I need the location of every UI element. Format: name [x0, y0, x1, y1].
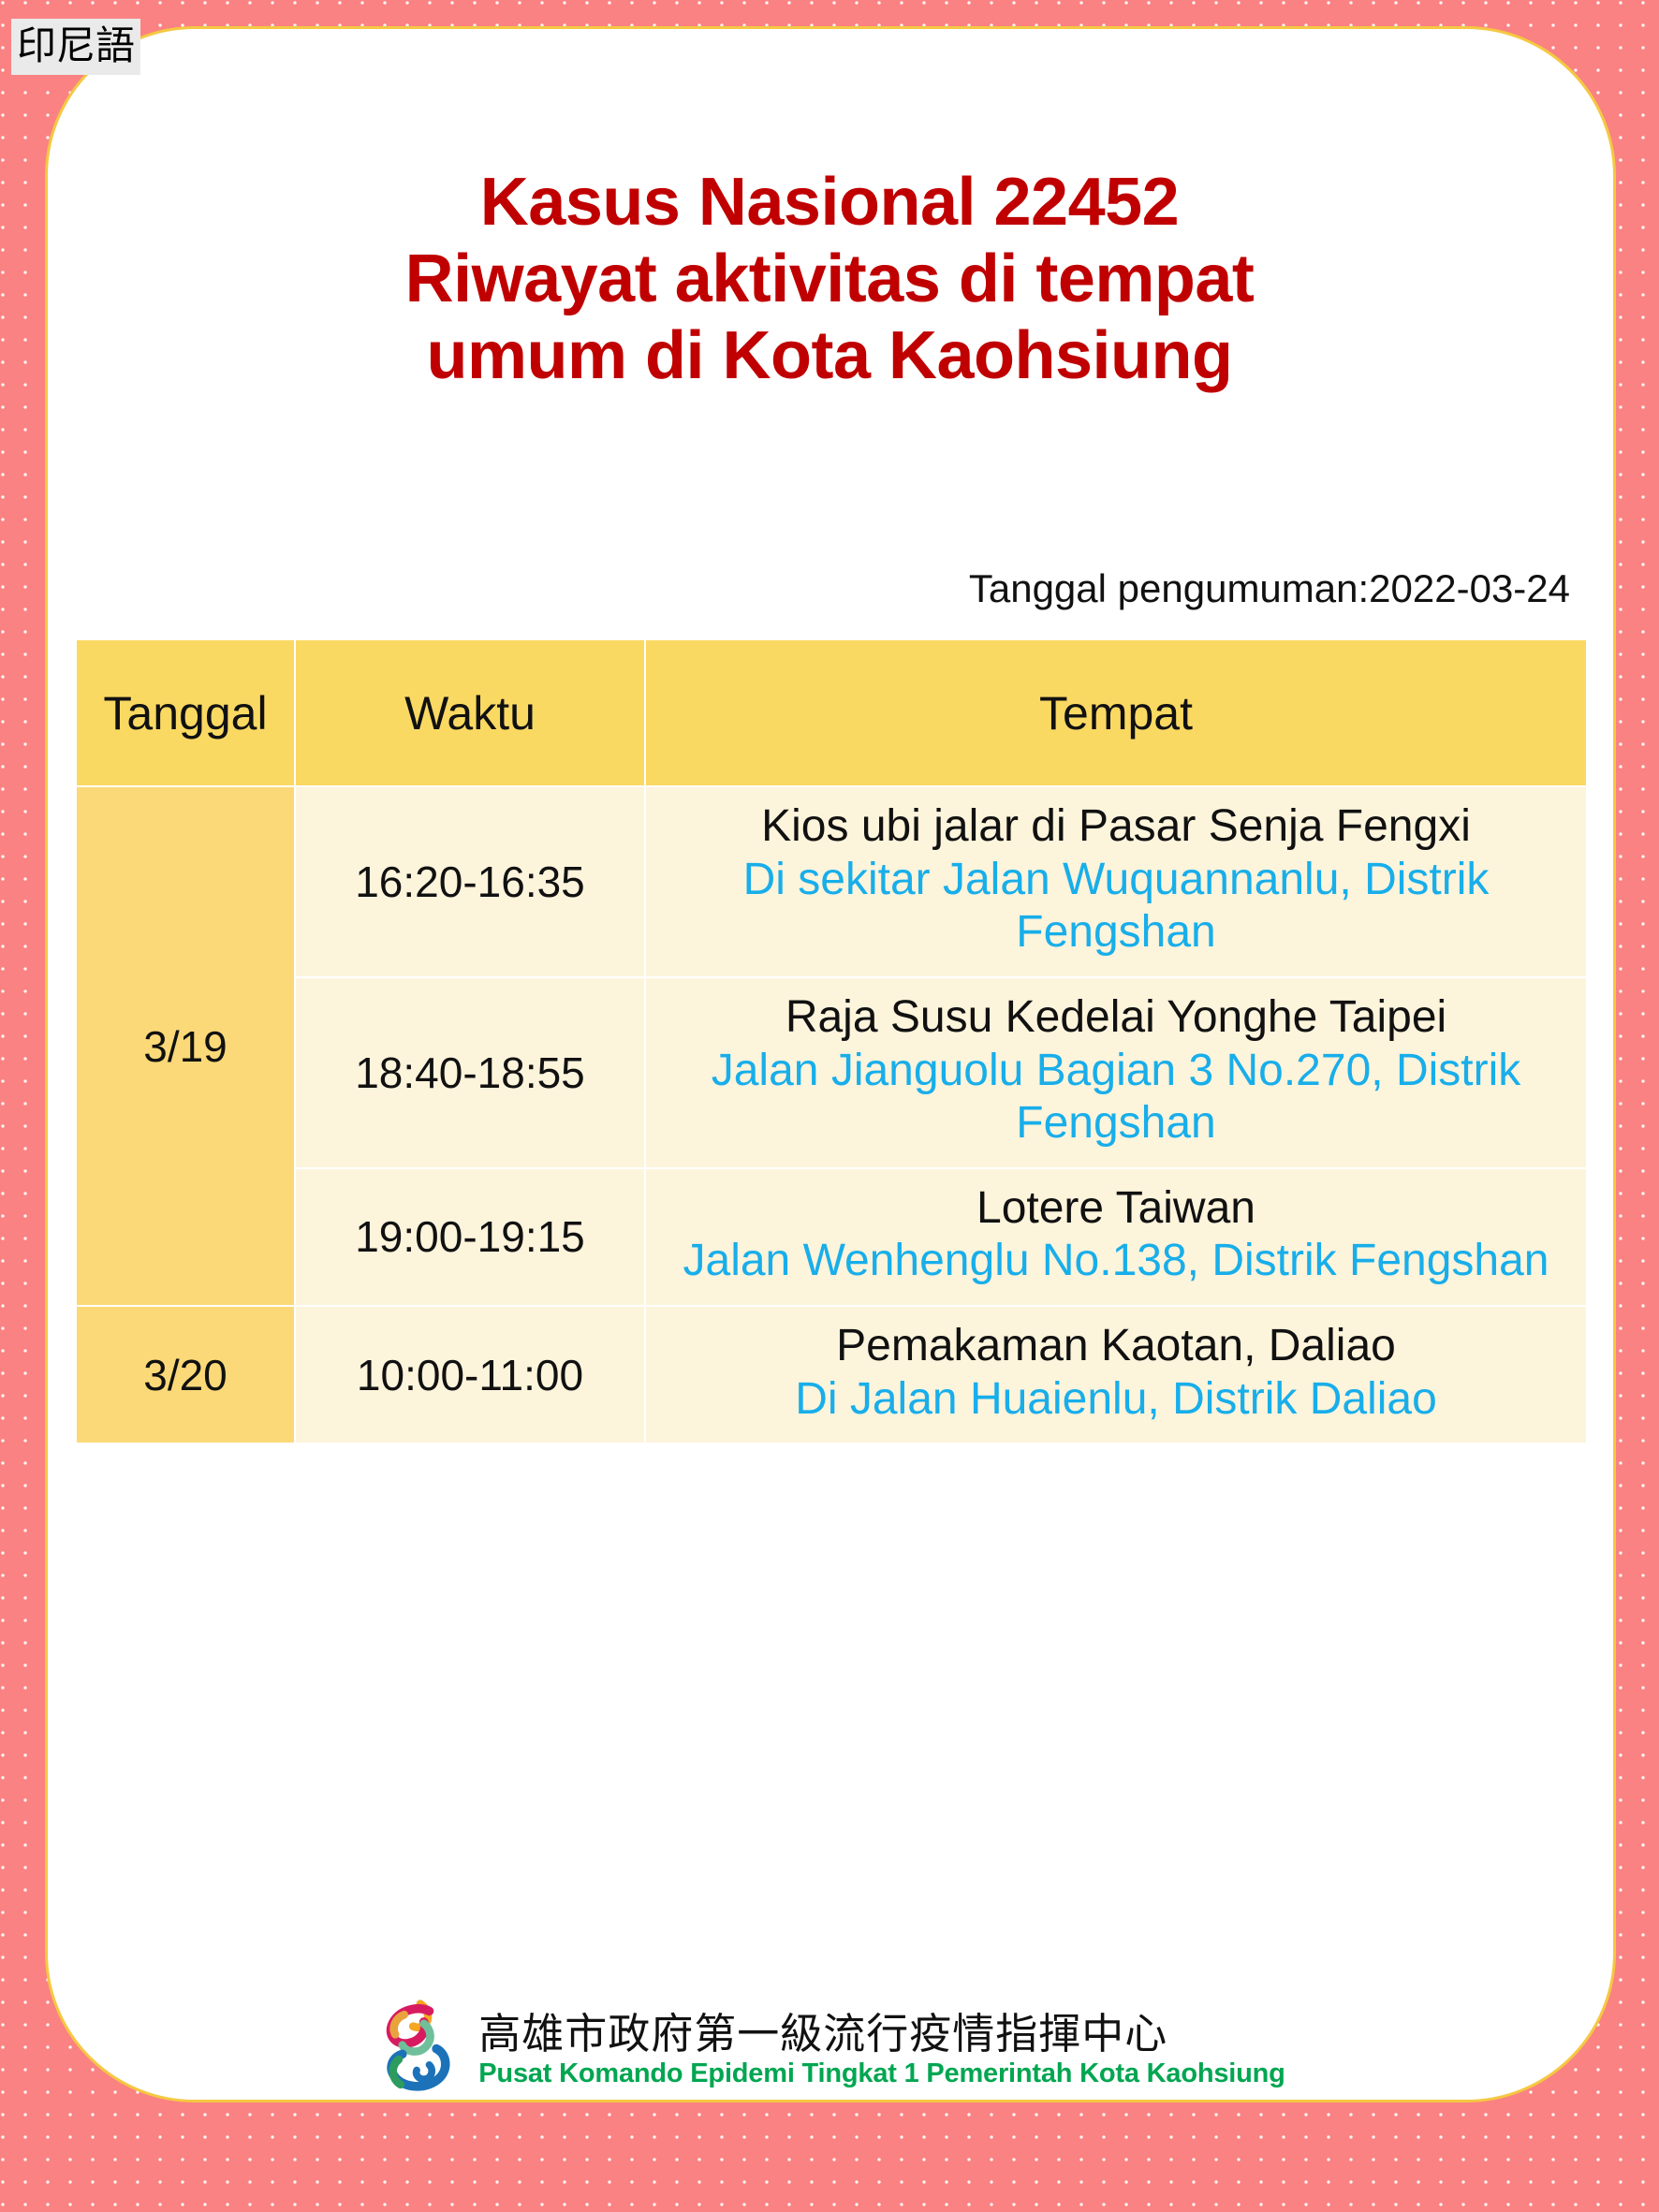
footer-org-chinese: 高雄市政府第一級流行疫情指揮中心	[478, 2011, 1285, 2058]
column-header-date: Tanggal	[77, 640, 294, 785]
place-name: Pemakaman Kaotan, Daliao	[667, 1320, 1565, 1373]
table-header-row: Tanggal Waktu Tempat	[77, 640, 1586, 785]
footer-org-indonesian: Pusat Komando Epidemi Tingkat 1 Pemerint…	[478, 2059, 1285, 2089]
table-header: Tanggal Waktu Tempat	[77, 640, 1586, 785]
footer-text: 高雄市政府第一級流行疫情指揮中心 Pusat Komando Epidemi T…	[478, 2011, 1285, 2089]
table-row: 18:40-18:55Raja Susu Kedelai Yonghe Taip…	[77, 978, 1586, 1167]
place-address: Jalan Jianguolu Bagian 3 No.270, Distrik…	[667, 1045, 1565, 1150]
cell-date: 3/20	[77, 1307, 294, 1443]
column-header-time: Waktu	[296, 640, 644, 785]
column-header-place: Tempat	[646, 640, 1586, 785]
page-title: Kasus Nasional 22452 Riwayat aktivitas d…	[0, 164, 1659, 394]
table-row: 19:00-19:15Lotere TaiwanJalan Wenhenglu …	[77, 1169, 1586, 1305]
announcement-date: Tanggal pengumuman:2022-03-24	[969, 566, 1570, 611]
activity-table-wrapper: Tanggal Waktu Tempat 3/1916:20-16:35Kios…	[75, 638, 1588, 1444]
place-address: Di Jalan Huaienlu, Distrik Daliao	[667, 1373, 1565, 1427]
activity-table: Tanggal Waktu Tempat 3/1916:20-16:35Kios…	[75, 638, 1588, 1444]
footer: 高雄市政府第一級流行疫情指揮中心 Pusat Komando Epidemi T…	[0, 1999, 1659, 2102]
place-address: Jalan Wenhenglu No.138, Distrik Fengshan	[667, 1235, 1565, 1288]
cell-time: 16:20-16:35	[296, 787, 644, 976]
page-title-line-1: Kasus Nasional 22452	[103, 164, 1556, 241]
cell-place: Kios ubi jalar di Pasar Senja FengxiDi s…	[646, 787, 1586, 976]
table-body: 3/1916:20-16:35Kios ubi jalar di Pasar S…	[77, 787, 1586, 1443]
cell-time: 18:40-18:55	[296, 978, 644, 1167]
cell-time: 19:00-19:15	[296, 1169, 644, 1305]
table-row: 3/2010:00-11:00Pemakaman Kaotan, DaliaoD…	[77, 1307, 1586, 1443]
cell-place: Lotere TaiwanJalan Wenhenglu No.138, Dis…	[646, 1169, 1586, 1305]
place-name: Kios ubi jalar di Pasar Senja Fengxi	[667, 800, 1565, 854]
cell-date: 3/19	[77, 787, 294, 1305]
cell-place: Raja Susu Kedelai Yonghe TaipeiJalan Jia…	[646, 978, 1586, 1167]
place-name: Lotere Taiwan	[667, 1182, 1565, 1236]
place-name: Raja Susu Kedelai Yonghe Taipei	[667, 991, 1565, 1045]
kaohsiung-city-ribbon-logo-icon	[374, 1999, 463, 2102]
page-title-line-2: Riwayat aktivitas di tempat	[103, 241, 1556, 317]
language-badge: 印尼語	[11, 19, 140, 75]
cell-place: Pemakaman Kaotan, DaliaoDi Jalan Huaienl…	[646, 1307, 1586, 1443]
table-row: 3/1916:20-16:35Kios ubi jalar di Pasar S…	[77, 787, 1586, 976]
page-title-line-3: umum di Kota Kaohsiung	[103, 317, 1556, 394]
cell-time: 10:00-11:00	[296, 1307, 644, 1443]
place-address: Di sekitar Jalan Wuquannanlu, Distrik Fe…	[667, 854, 1565, 960]
